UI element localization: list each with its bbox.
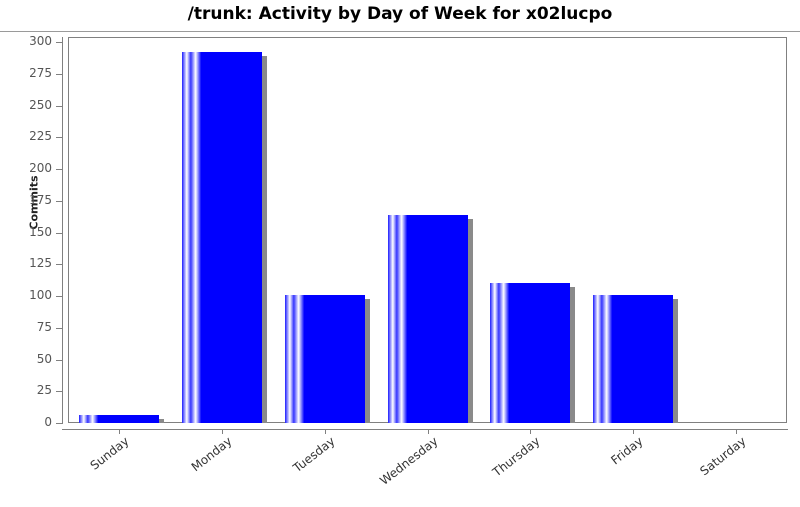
chart-title: /trunk: Activity by Day of Week for x02l… xyxy=(0,4,800,24)
y-tick-mark xyxy=(56,201,62,202)
x-tick-label-friday: Friday xyxy=(558,434,645,507)
x-tick-mark xyxy=(325,429,326,434)
y-tick-mark xyxy=(56,233,62,234)
title-divider xyxy=(0,31,800,32)
y-tick-label: 175 xyxy=(0,193,52,207)
y-tick-mark xyxy=(56,423,62,424)
y-axis-line xyxy=(62,37,63,424)
x-tick-label-wednesday: Wednesday xyxy=(353,434,440,507)
y-tick-label: 75 xyxy=(0,320,52,334)
x-tick-mark xyxy=(222,429,223,434)
y-tick-mark xyxy=(56,137,62,138)
x-tick-label-tuesday: Tuesday xyxy=(250,434,337,507)
y-tick-mark xyxy=(56,42,62,43)
bar-monday[interactable] xyxy=(182,52,262,423)
y-tick-label: 275 xyxy=(0,66,52,80)
x-tick-label-sunday: Sunday xyxy=(45,434,132,507)
bar-tuesday[interactable] xyxy=(285,295,365,423)
x-tick-mark xyxy=(530,429,531,434)
y-tick-label: 250 xyxy=(0,98,52,112)
x-tick-label-monday: Monday xyxy=(147,434,234,507)
x-tick-mark xyxy=(633,429,634,434)
y-tick-mark xyxy=(56,360,62,361)
y-tick-label: 225 xyxy=(0,129,52,143)
y-tick-mark xyxy=(56,391,62,392)
y-tick-mark xyxy=(56,264,62,265)
bar-friday[interactable] xyxy=(593,295,673,423)
y-tick-label: 125 xyxy=(0,256,52,270)
y-tick-label: 50 xyxy=(0,352,52,366)
y-tick-label: 150 xyxy=(0,225,52,239)
x-tick-mark xyxy=(119,429,120,434)
bar-wednesday[interactable] xyxy=(388,215,468,423)
bar-sunday[interactable] xyxy=(79,415,159,423)
x-tick-mark xyxy=(736,429,737,434)
y-tick-mark xyxy=(56,328,62,329)
y-tick-label: 0 xyxy=(0,415,52,429)
y-tick-mark xyxy=(56,169,62,170)
x-tick-label-thursday: Thursday xyxy=(455,434,542,507)
y-tick-mark xyxy=(56,74,62,75)
y-tick-label: 25 xyxy=(0,383,52,397)
x-tick-label-saturday: Saturday xyxy=(661,434,748,507)
y-tick-mark xyxy=(56,296,62,297)
y-tick-mark xyxy=(56,106,62,107)
x-tick-mark xyxy=(428,429,429,434)
y-tick-label: 100 xyxy=(0,288,52,302)
chart-container: /trunk: Activity by Day of Week for x02l… xyxy=(0,0,800,500)
y-tick-label: 200 xyxy=(0,161,52,175)
x-axis-line xyxy=(62,429,788,430)
y-tick-label: 300 xyxy=(0,34,52,48)
bar-thursday[interactable] xyxy=(490,283,570,423)
